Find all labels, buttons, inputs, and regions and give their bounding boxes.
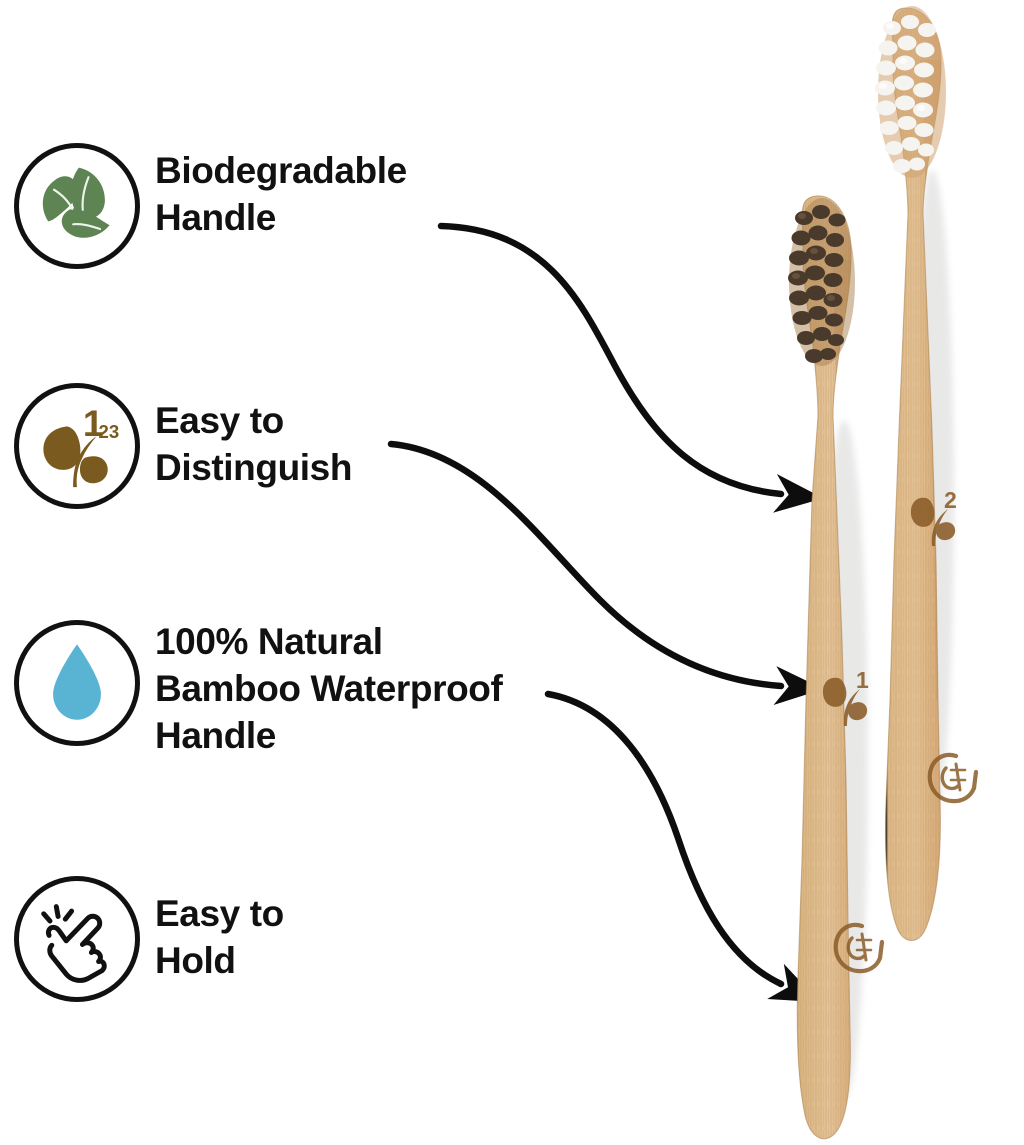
tapping-hand-icon — [14, 876, 140, 1002]
feature-label-easy-to-hold: Easy to Hold — [155, 876, 284, 984]
feature-label-waterproof-handle: 100% Natural Bamboo Waterproof Handle — [155, 616, 502, 759]
charcoal-bristle-field — [788, 198, 855, 366]
arrow-biodegradable-handle — [441, 226, 781, 494]
feature-label-easy-to-distinguish: Easy to Distinguish — [155, 383, 352, 491]
feature-row-easy-to-hold: Easy to Hold — [0, 876, 284, 1002]
toothbrush-white-bristle: 2 — [870, 0, 976, 1000]
feature-row-easy-to-distinguish: 1 23 Easy to Distinguish — [0, 383, 352, 509]
svg-text:23: 23 — [99, 421, 120, 442]
svg-text:1: 1 — [856, 667, 869, 693]
feature-label-biodegradable-handle: Biodegradable Handle — [155, 143, 407, 241]
water-droplet-icon — [14, 620, 140, 746]
water-droplet-glyph — [14, 620, 140, 746]
infographic-canvas: Biodegradable Handle 1 23 Easy to Distin… — [0, 0, 1024, 1145]
white-bristle-field — [875, 6, 946, 178]
numbered-leaf-sprig-icon: 1 23 — [14, 383, 140, 509]
feature-row-waterproof-handle: 100% Natural Bamboo Waterproof Handle — [0, 620, 502, 759]
arrow-waterproof-handle — [548, 694, 781, 984]
feature-row-biodegradable-handle: Biodegradable Handle — [0, 143, 407, 269]
recycle-leaves-icon — [14, 143, 140, 269]
numbered-leaf-sprig-glyph: 1 23 — [14, 383, 140, 509]
svg-text:2: 2 — [944, 487, 957, 513]
recycle-leaves-glyph — [14, 143, 140, 269]
bamboo-toothbrush-pair-photo: 2 — [760, 0, 1024, 1145]
tapping-hand-glyph — [14, 876, 140, 1002]
